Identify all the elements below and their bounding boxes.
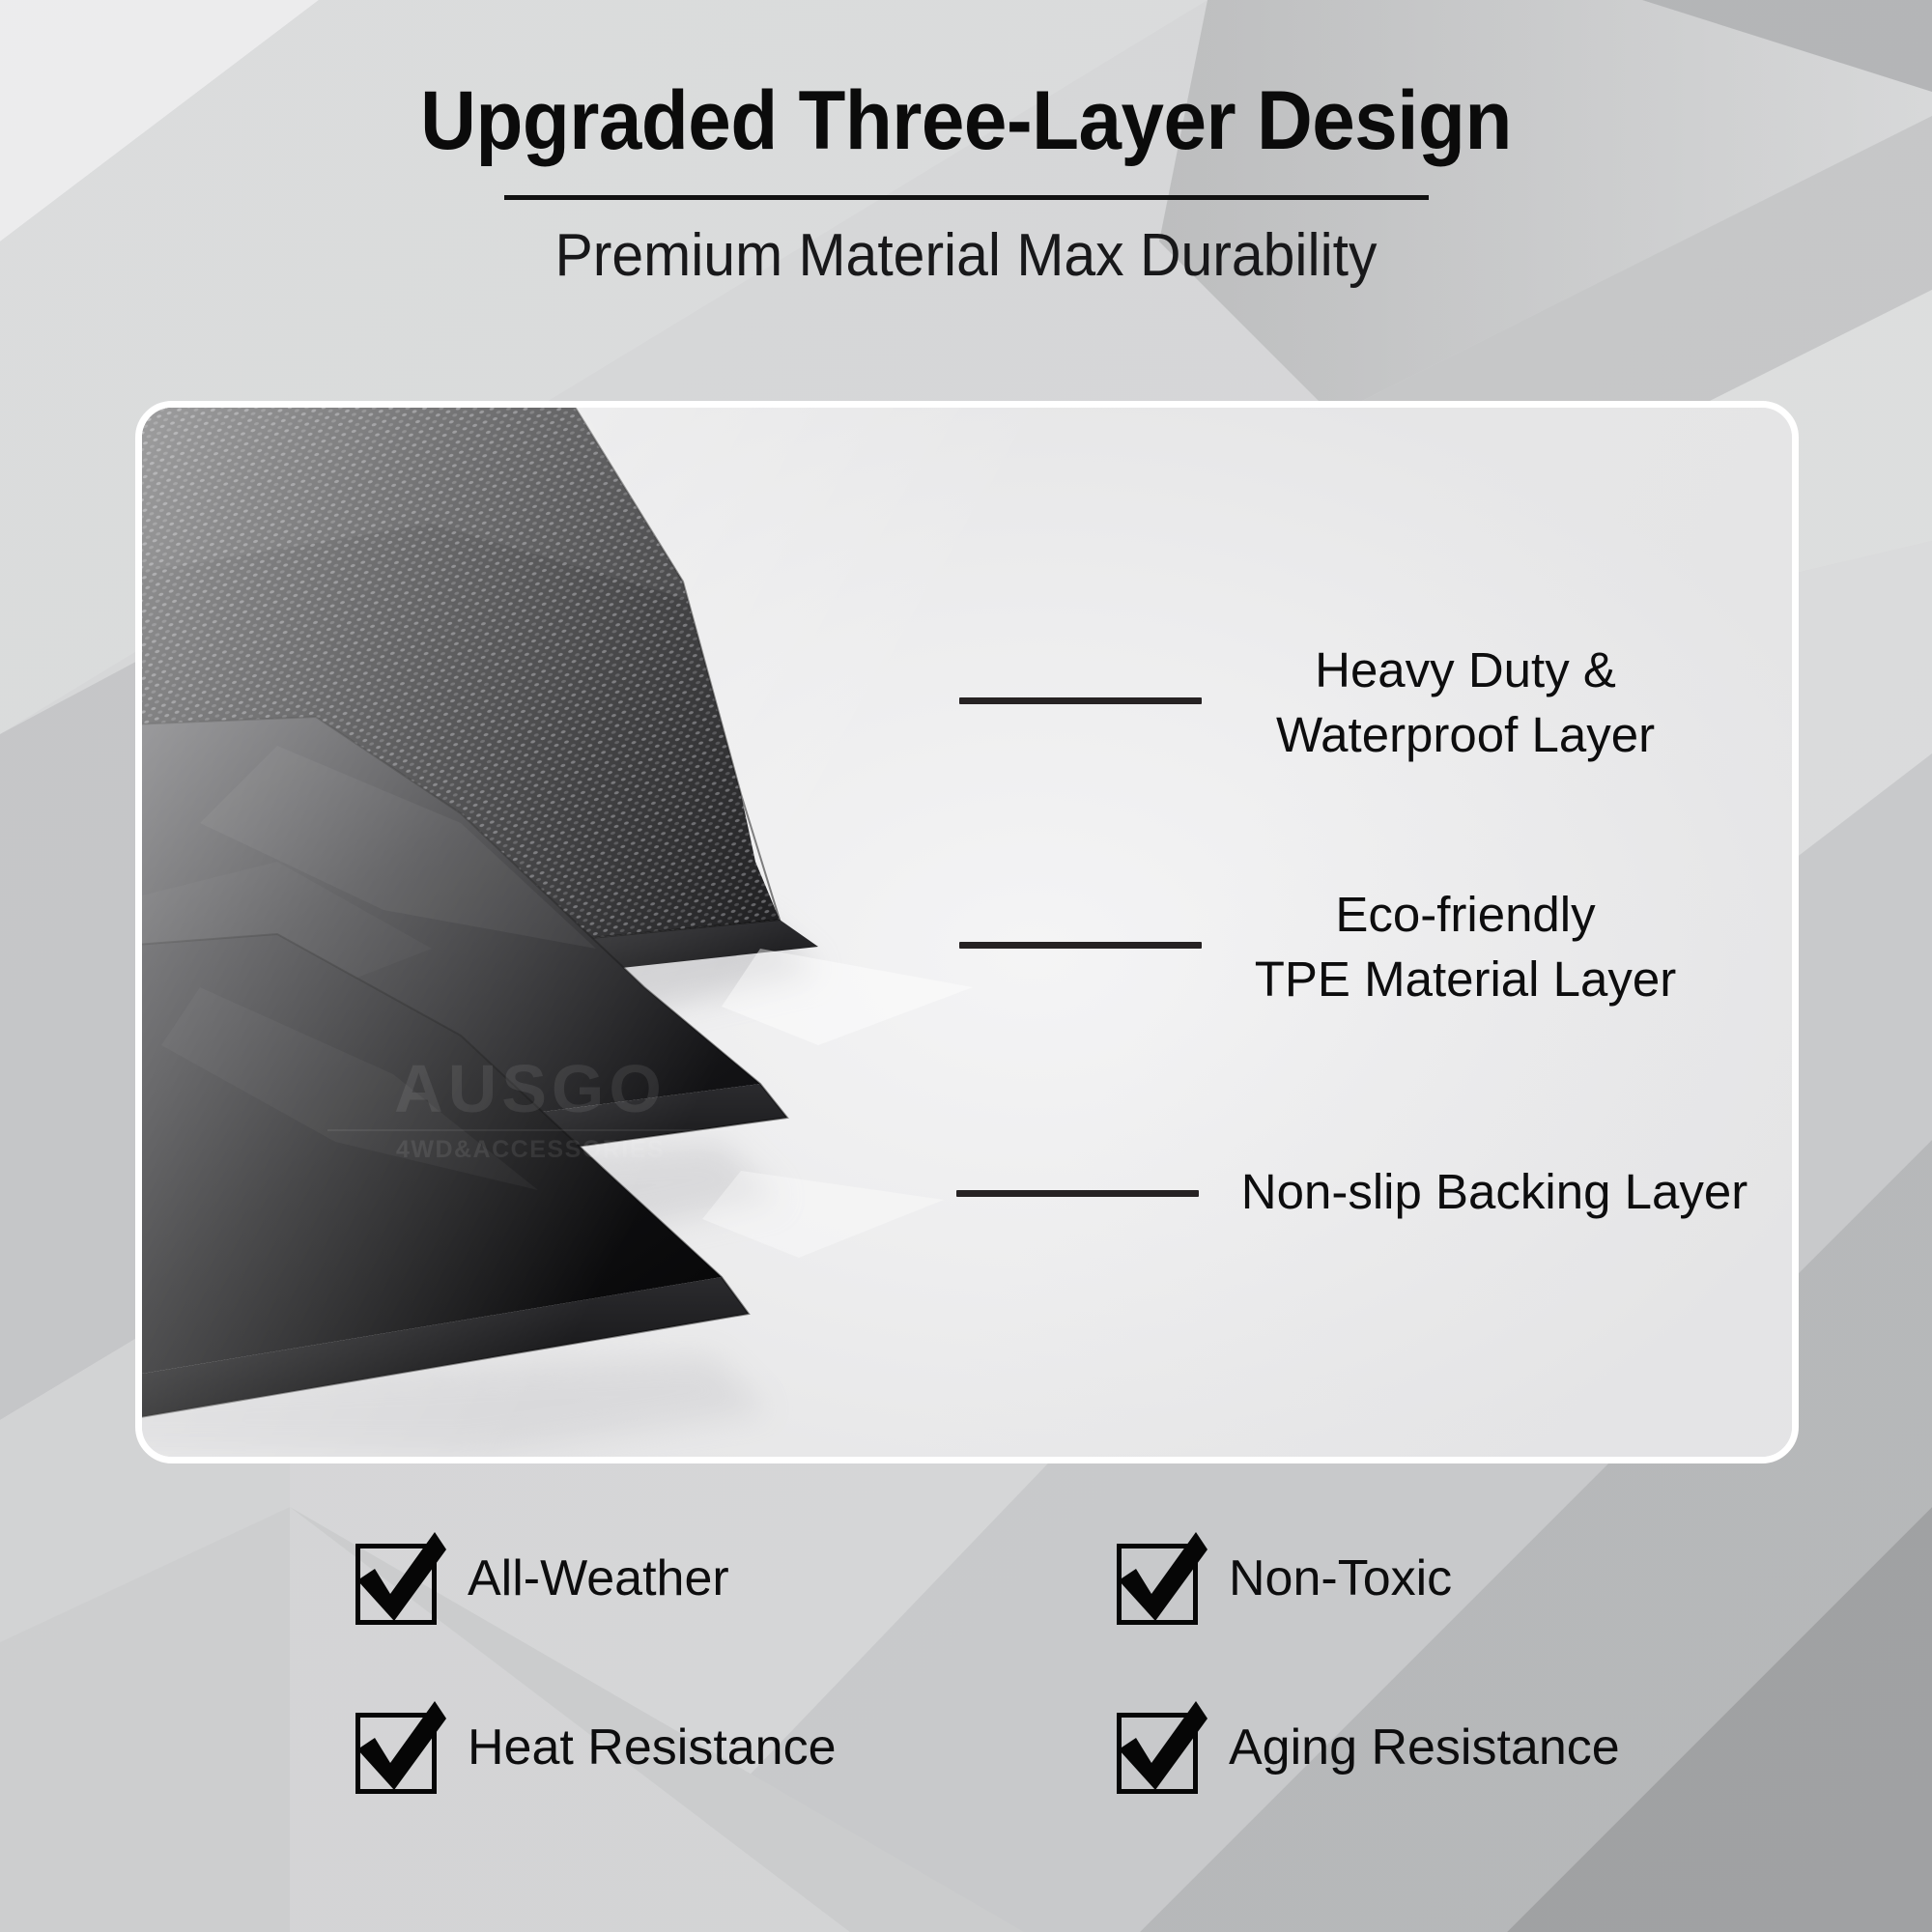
title-divider bbox=[504, 195, 1429, 200]
feature-row-2: Heat Resistance Aging Resistance bbox=[0, 1695, 1932, 1864]
page-title: Upgraded Three-Layer Design bbox=[68, 79, 1864, 162]
check-icon bbox=[1107, 1526, 1211, 1631]
callout-line-2b: TPE Material Layer bbox=[1195, 947, 1736, 1011]
feature-item-aging-resistance[interactable]: Aging Resistance bbox=[1107, 1695, 1620, 1800]
page-subtitle: Premium Material Max Durability bbox=[48, 221, 1884, 290]
callout-line-3a: Non-slip Backing Layer bbox=[1195, 1159, 1794, 1224]
checkbox-checked-icon[interactable] bbox=[346, 1526, 450, 1631]
feature-item-heat-resistance[interactable]: Heat Resistance bbox=[346, 1695, 837, 1800]
callout-line-2a: Eco-friendly bbox=[1195, 882, 1736, 947]
feature-label-non-toxic: Non-Toxic bbox=[1229, 1549, 1452, 1607]
check-icon bbox=[346, 1695, 450, 1800]
callout-line-1b: Waterproof Layer bbox=[1195, 702, 1736, 767]
product-image-card: AUSGO 4WD&ACCESSORIES Heavy Duty & Water… bbox=[135, 401, 1799, 1463]
leader-line-3 bbox=[956, 1190, 1199, 1197]
checkbox-checked-icon[interactable] bbox=[1107, 1695, 1211, 1800]
leader-line-2 bbox=[959, 942, 1202, 949]
feature-label-aging-resistance: Aging Resistance bbox=[1229, 1719, 1620, 1776]
check-icon bbox=[1107, 1695, 1211, 1800]
feature-row-1: All-Weather Non-Toxic bbox=[0, 1526, 1932, 1695]
callout-line-1a: Heavy Duty & bbox=[1195, 638, 1736, 702]
feature-checklist: All-Weather Non-Toxic Heat Resistance bbox=[0, 1526, 1932, 1864]
feature-item-non-toxic[interactable]: Non-Toxic bbox=[1107, 1526, 1452, 1631]
callout-label-1: Heavy Duty & Waterproof Layer bbox=[1195, 638, 1736, 768]
callout-label-3: Non-slip Backing Layer bbox=[1195, 1159, 1794, 1224]
check-icon bbox=[346, 1526, 450, 1631]
feature-label-heat-resistance: Heat Resistance bbox=[468, 1719, 837, 1776]
header: Upgraded Three-Layer Design Premium Mate… bbox=[0, 0, 1932, 290]
checkbox-checked-icon[interactable] bbox=[1107, 1526, 1211, 1631]
feature-item-all-weather[interactable]: All-Weather bbox=[346, 1526, 729, 1631]
checkbox-checked-icon[interactable] bbox=[346, 1695, 450, 1800]
leader-line-1 bbox=[959, 697, 1202, 704]
feature-label-all-weather: All-Weather bbox=[468, 1549, 729, 1607]
callout-label-2: Eco-friendly TPE Material Layer bbox=[1195, 882, 1736, 1012]
